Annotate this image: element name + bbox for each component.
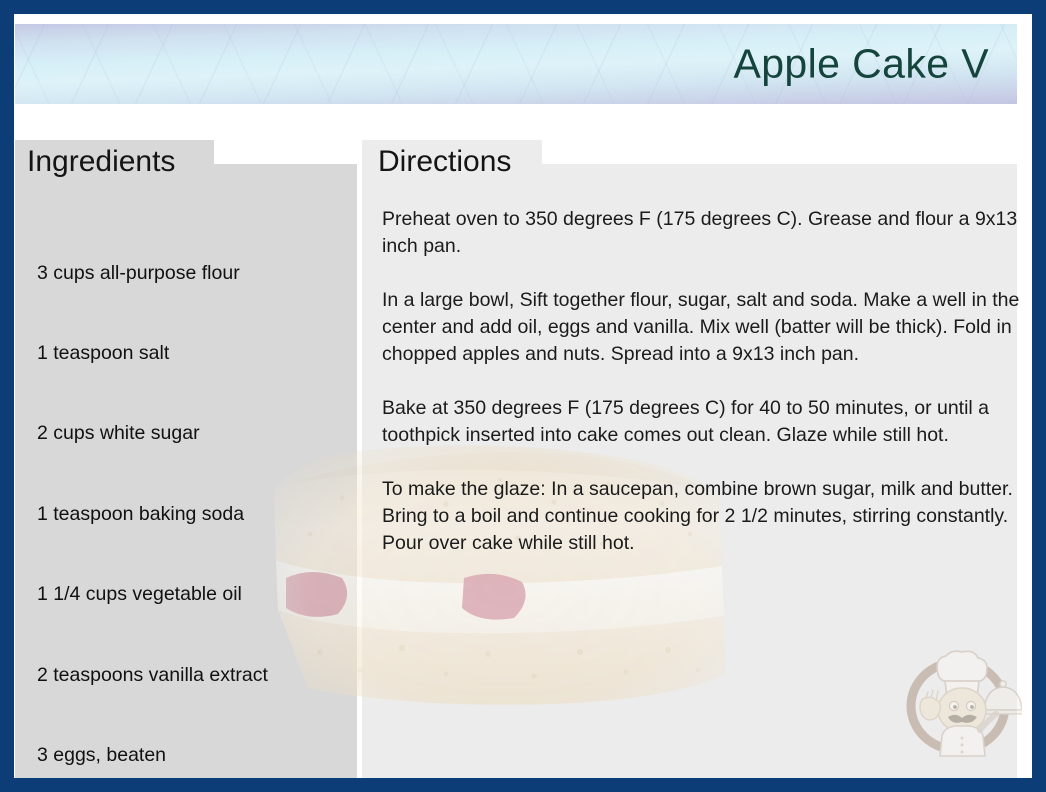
header-banner: Apple Cake V — [15, 24, 1017, 104]
recipe-sheet: Apple Cake V — [14, 14, 1032, 778]
list-item: 3 cups all-purpose flour — [37, 260, 367, 287]
directions-paragraph: To make the glaze: In a saucepan, combin… — [382, 476, 1032, 557]
ingredients-heading: Ingredients — [15, 140, 214, 184]
directions-text: Preheat oven to 350 degrees F (175 degre… — [382, 206, 1032, 557]
list-item: 2 teaspoons vanilla extract — [37, 662, 367, 689]
list-item: 3 eggs, beaten — [37, 742, 367, 769]
list-item: 1 teaspoon salt — [37, 340, 367, 367]
page-title: Apple Cake V — [733, 44, 989, 85]
list-item: 2 cups white sugar — [37, 420, 367, 447]
recipe-card-page: Apple Cake V — [0, 0, 1046, 792]
directions-paragraph: Bake at 350 degrees F (175 degrees C) fo… — [382, 395, 1032, 449]
directions-paragraph: Preheat oven to 350 degrees F (175 degre… — [382, 206, 1032, 260]
list-item: 1 1/4 cups vegetable oil — [37, 581, 367, 608]
ingredients-list: 3 cups all-purpose flour 1 teaspoon salt… — [37, 206, 367, 792]
list-item: 1 teaspoon baking soda — [37, 501, 367, 528]
directions-heading: Directions — [362, 140, 542, 184]
directions-paragraph: In a large bowl, Sift together flour, su… — [382, 287, 1032, 368]
